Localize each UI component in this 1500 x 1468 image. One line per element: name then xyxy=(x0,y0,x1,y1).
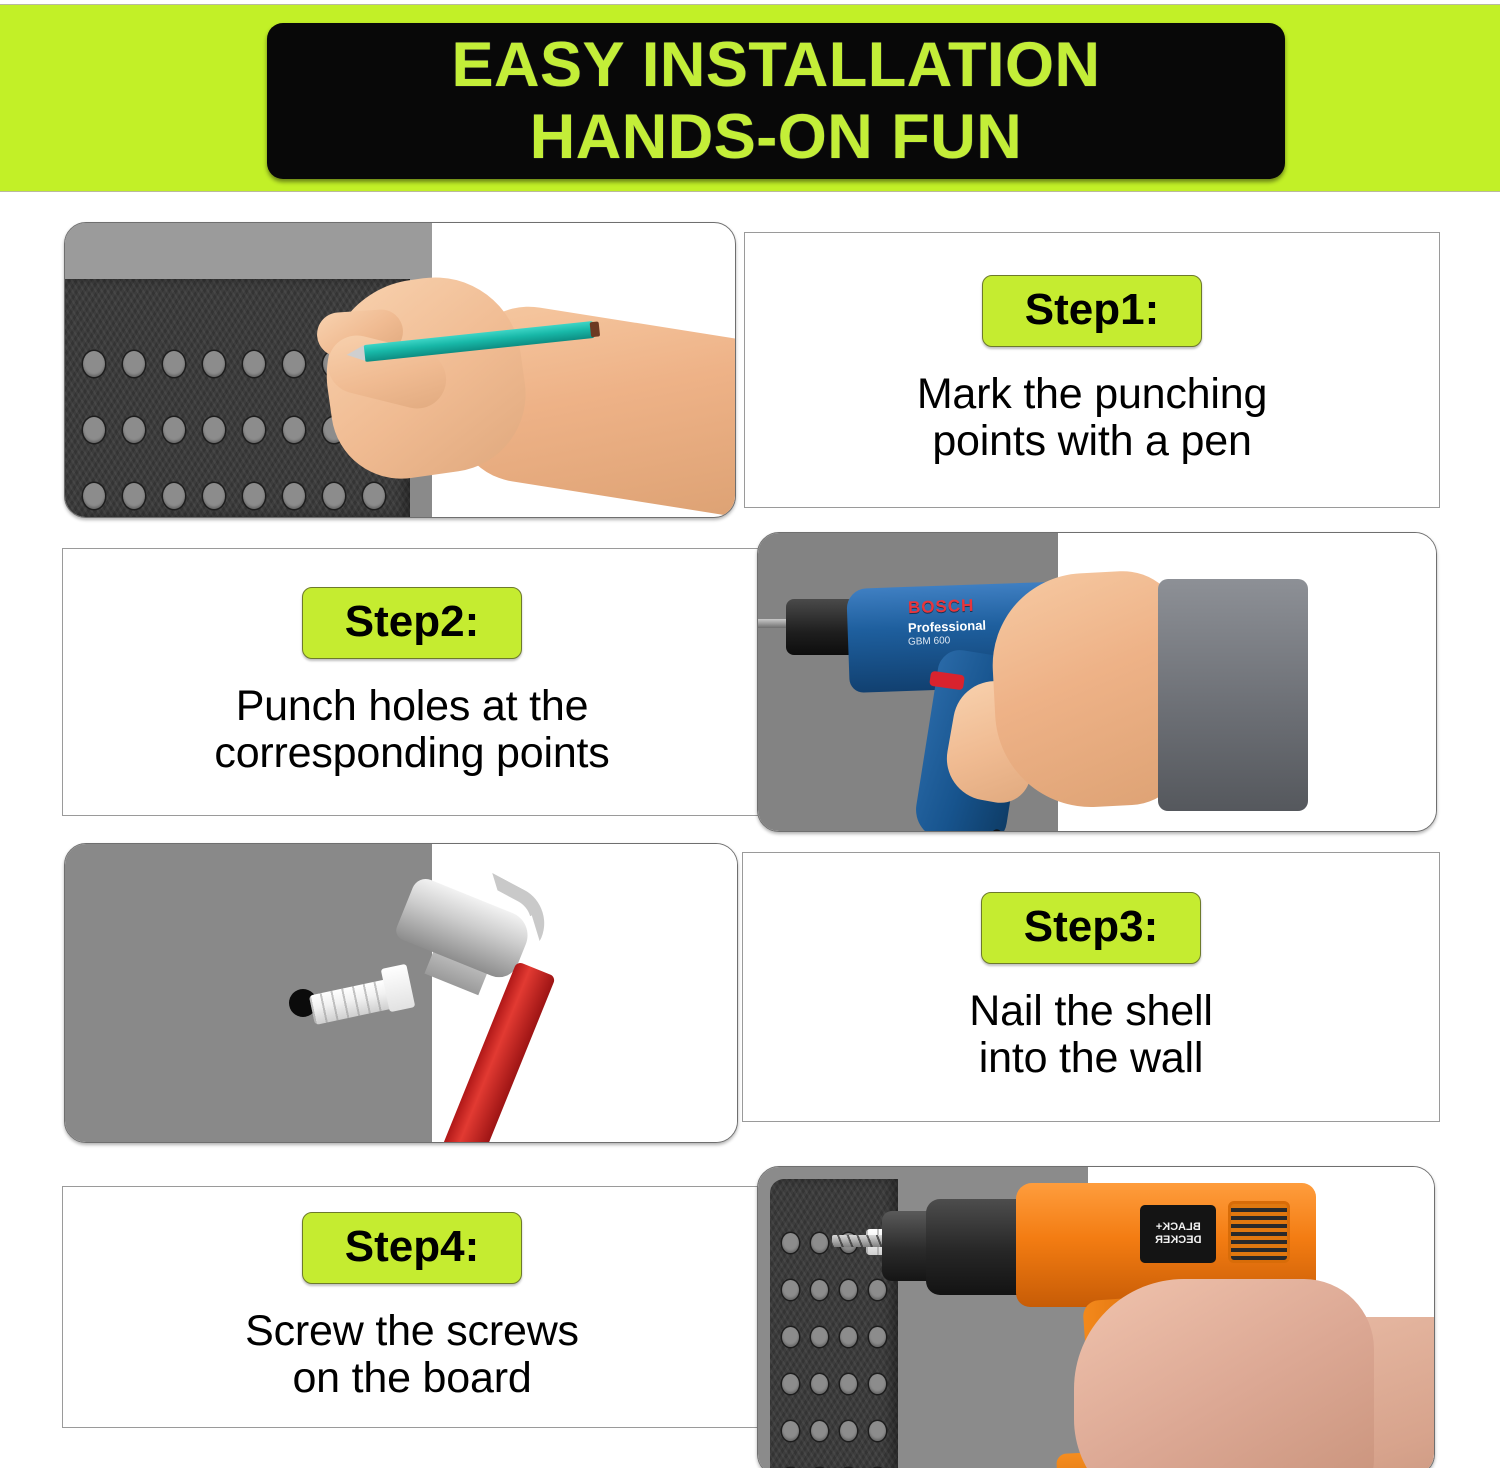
pegboard-hole xyxy=(323,483,345,509)
pegboard-hole xyxy=(840,1280,857,1300)
pegboard-hole xyxy=(782,1327,799,1347)
pegboard-hole xyxy=(811,1327,828,1347)
pegboard-hole xyxy=(811,1280,828,1300)
pegboard-strip xyxy=(770,1179,898,1468)
shirt-sleeve xyxy=(1158,579,1308,811)
pegboard-hole xyxy=(782,1233,799,1253)
header-title-plate: EASY INSTALLATION HANDS-ON FUN xyxy=(267,23,1285,179)
pegboard-hole xyxy=(840,1374,857,1394)
pegboard-hole xyxy=(123,417,145,443)
step-3-image-panel xyxy=(64,843,738,1143)
pegboard-hole xyxy=(203,351,225,377)
step-3-scene xyxy=(65,844,737,1142)
step-4-image-panel: BLACK+DECKER xyxy=(757,1166,1435,1468)
pen-tip xyxy=(346,345,366,363)
pen-end-cap xyxy=(590,321,601,337)
header-title-line-2: HANDS-ON FUN xyxy=(530,101,1022,173)
step-3-badge: Step3: xyxy=(981,892,1201,964)
pegboard-hole xyxy=(782,1374,799,1394)
step-3-description: Nail the shell into the wall xyxy=(969,988,1212,1082)
step-2-scene: BOSCH Professional GBM 600 xyxy=(758,533,1436,831)
pegboard-hole xyxy=(283,483,305,509)
wall-upper-highlight xyxy=(65,223,432,287)
pegboard-hole xyxy=(840,1421,857,1441)
header-banner: EASY INSTALLATION HANDS-ON FUN xyxy=(0,4,1500,192)
step-4-scene: BLACK+DECKER xyxy=(758,1167,1434,1468)
pegboard-hole xyxy=(83,483,105,509)
blackdecker-brand-plate: BLACK+DECKER xyxy=(1140,1205,1216,1263)
pegboard-hole xyxy=(363,483,385,509)
header-title-line-1: EASY INSTALLATION xyxy=(451,29,1100,101)
pegboard-hole xyxy=(782,1421,799,1441)
pegboard-hole xyxy=(163,483,185,509)
step-1-text-panel: Step1: Mark the punching points with a p… xyxy=(744,232,1440,508)
step-1-scene xyxy=(65,223,735,517)
infographic-page: EASY INSTALLATION HANDS-ON FUN Step1: Ma… xyxy=(0,0,1500,1468)
hand-gripping-drill xyxy=(1074,1279,1374,1468)
step-4-text-panel: Step4: Screw the screws on the board xyxy=(62,1186,762,1428)
pegboard-hole xyxy=(203,417,225,443)
bosch-model-label: GBM 600 xyxy=(908,635,951,647)
pegboard-hole xyxy=(869,1421,886,1441)
pegboard-hole xyxy=(811,1374,828,1394)
pegboard-hole xyxy=(283,417,305,443)
bosch-brand-label: BOSCH xyxy=(908,596,975,618)
pegboard-hole xyxy=(869,1327,886,1347)
step-1-description: Mark the punching points with a pen xyxy=(917,371,1267,465)
pegboard-hole xyxy=(840,1327,857,1347)
pegboard-hole xyxy=(163,351,185,377)
step-2-description: Punch holes at the corresponding points xyxy=(214,683,609,777)
pegboard-hole xyxy=(83,417,105,443)
pegboard-hole xyxy=(811,1233,828,1253)
pegboard-hole xyxy=(243,417,265,443)
pegboard-hole xyxy=(243,483,265,509)
blackdecker-brand-text: BLACK+DECKER xyxy=(1155,1221,1201,1247)
step-2-badge: Step2: xyxy=(302,587,522,659)
pegboard-hole xyxy=(243,351,265,377)
pegboard-hole xyxy=(811,1421,828,1441)
step-2-image-panel: BOSCH Professional GBM 600 xyxy=(757,532,1437,832)
drill-vent-grille xyxy=(1228,1201,1290,1263)
pegboard-hole xyxy=(283,351,305,377)
pegboard-hole xyxy=(782,1280,799,1300)
pegboard-hole xyxy=(123,351,145,377)
bosch-professional-label: Professional xyxy=(908,618,987,636)
step-3-text-panel: Step3: Nail the shell into the wall xyxy=(742,852,1440,1122)
step-1-badge: Step1: xyxy=(982,275,1202,347)
step-2-text-panel: Step2: Punch holes at the corresponding … xyxy=(62,548,762,816)
step-4-description: Screw the screws on the board xyxy=(245,1308,579,1402)
step-1-image-panel xyxy=(64,222,736,518)
pegboard-hole-grid xyxy=(770,1179,898,1468)
pegboard-hole xyxy=(123,483,145,509)
pegboard-hole xyxy=(869,1280,886,1300)
step-4-badge: Step4: xyxy=(302,1212,522,1284)
pegboard-hole xyxy=(869,1374,886,1394)
pegboard-hole xyxy=(203,483,225,509)
pegboard-hole xyxy=(163,417,185,443)
pegboard-hole xyxy=(83,351,105,377)
